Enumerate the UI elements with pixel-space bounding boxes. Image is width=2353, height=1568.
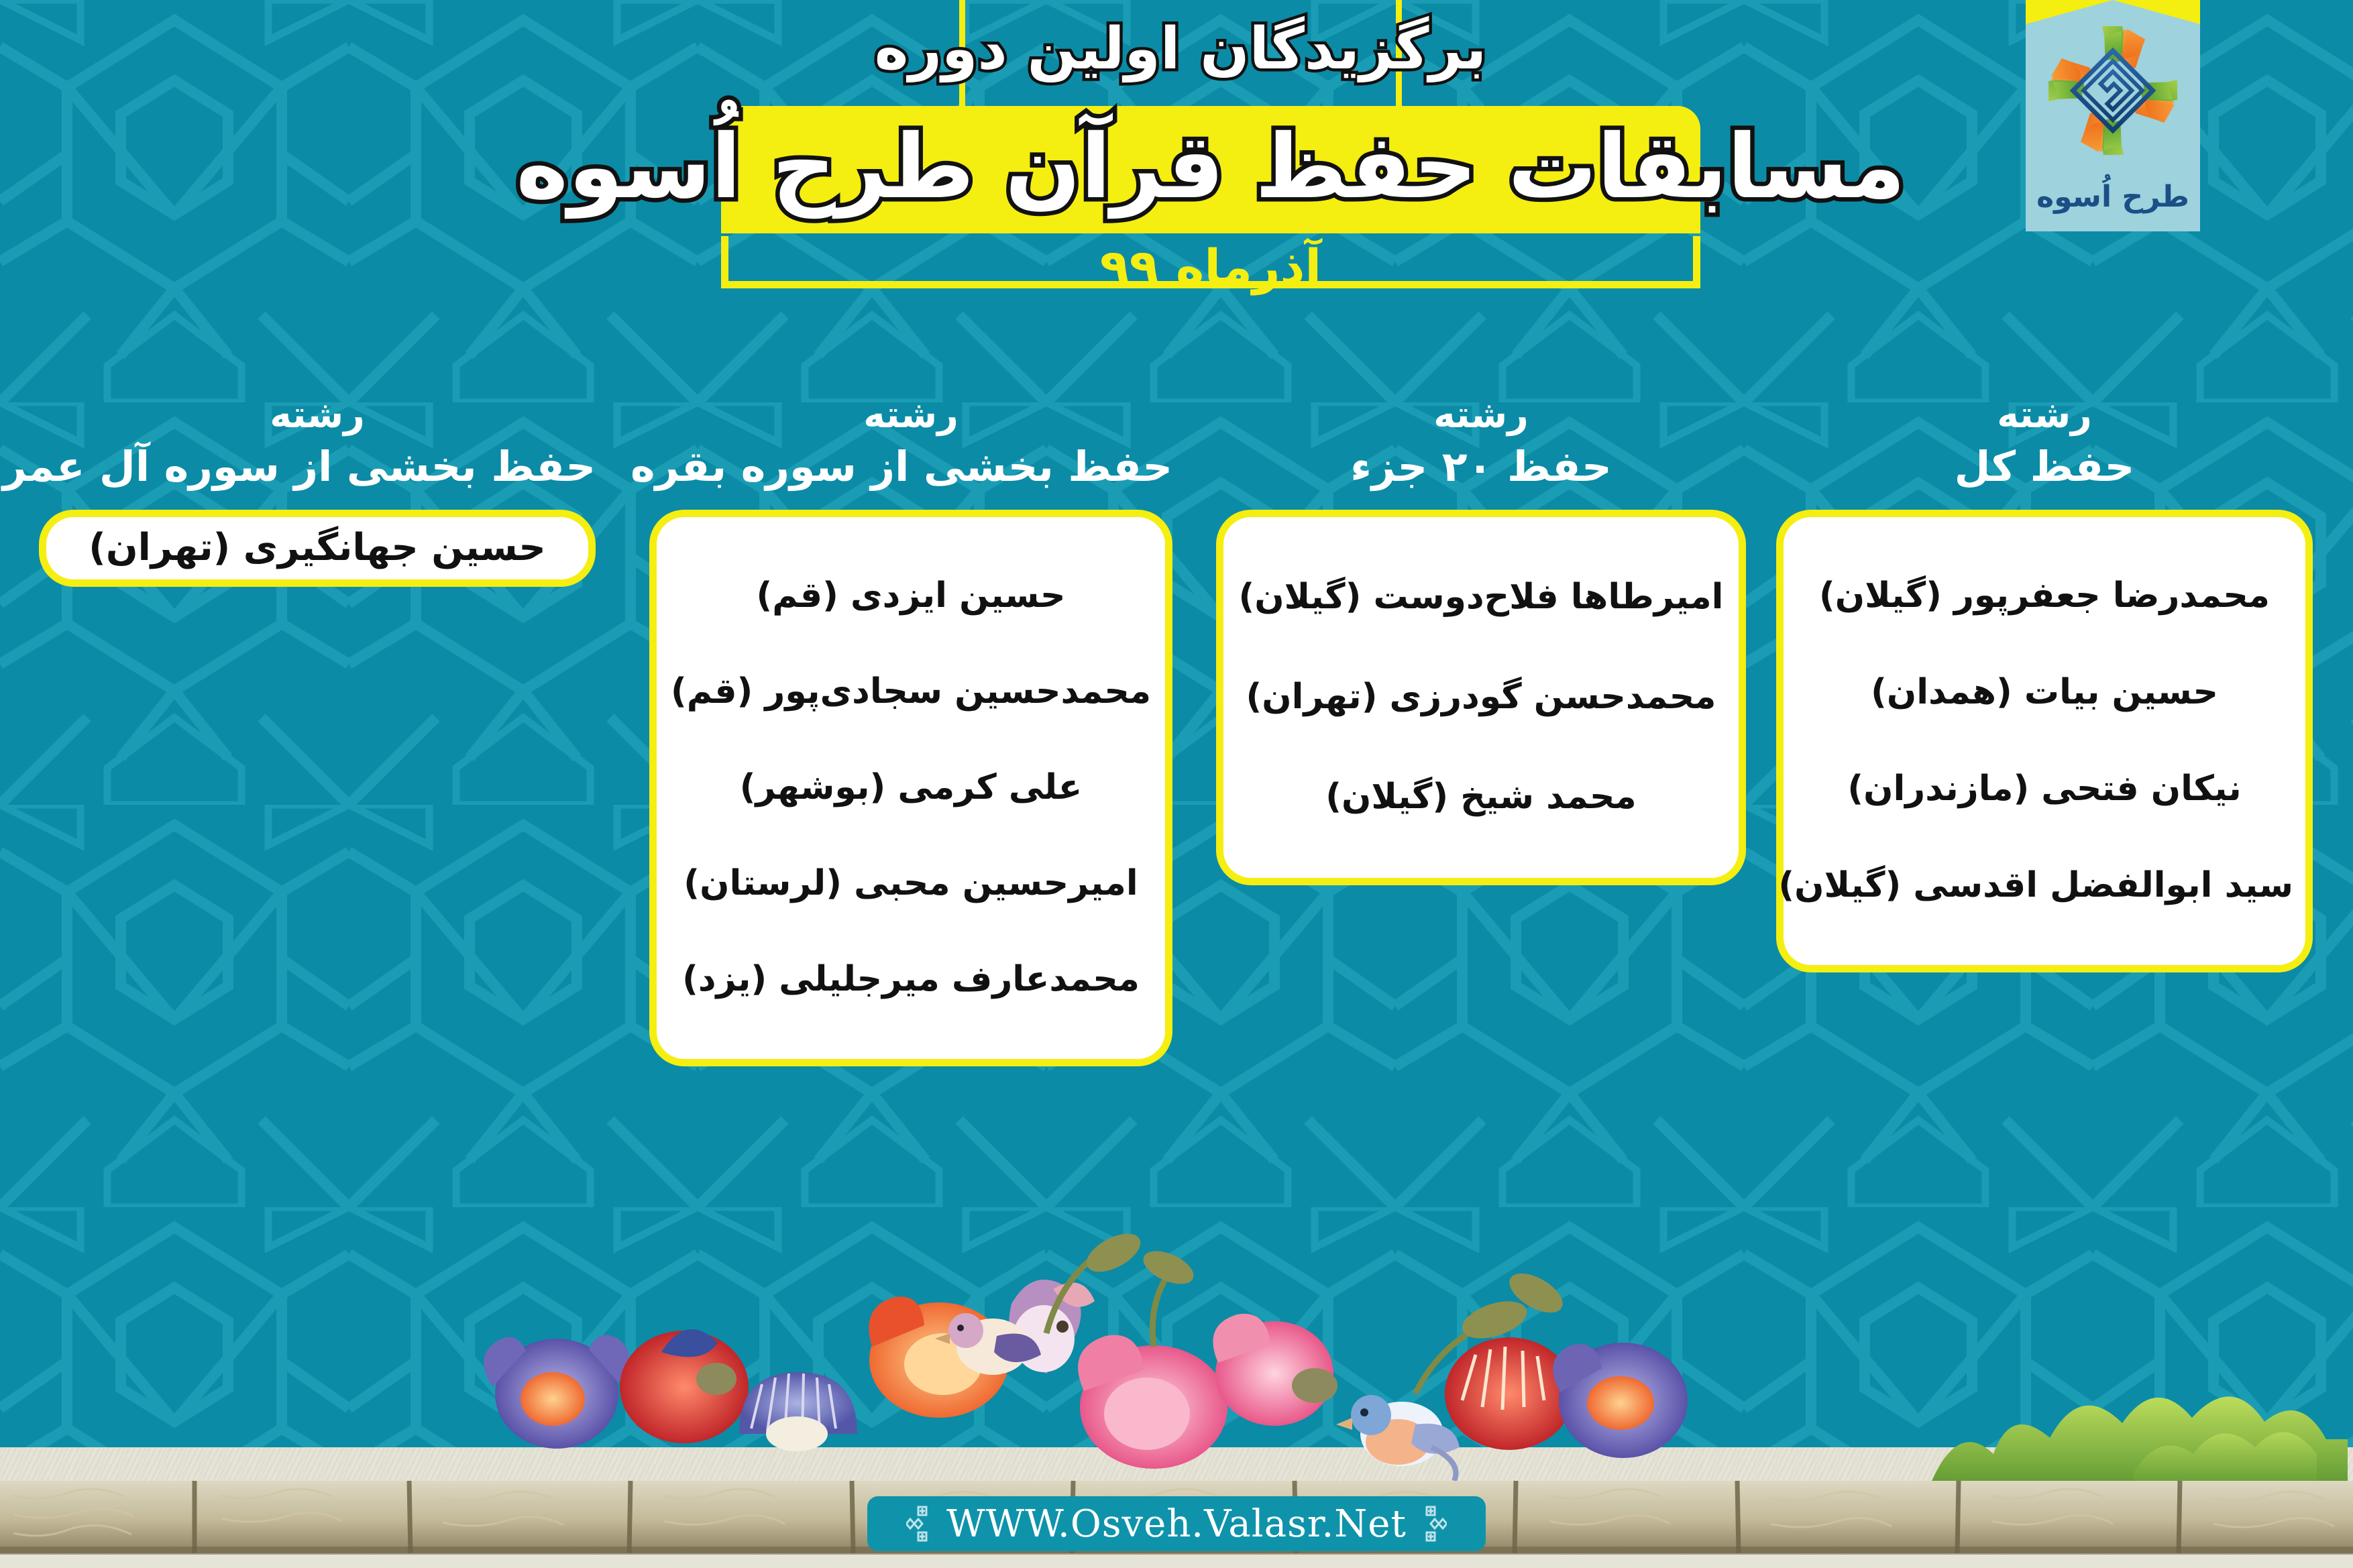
website-url: WWW.Osveh.Valasr.Net bbox=[946, 1502, 1407, 1546]
poster-root: برگزیدگان اولین دوره مسابقات حفظ قرآن طر… bbox=[0, 0, 2353, 1568]
ornament-right-icon bbox=[906, 1504, 929, 1543]
column-kind-label: رشته bbox=[1776, 396, 2313, 435]
winner-name: حسین ایزدی (قم) bbox=[669, 576, 1153, 616]
column-kind-label: رشته bbox=[1216, 396, 1746, 435]
date-label: آذرماه ۹۹ bbox=[721, 240, 1700, 294]
ornament-left-icon bbox=[1424, 1504, 1447, 1543]
winners-columns: رشته حفظ بخشی از سوره آل عمران حسین جهان… bbox=[0, 396, 2353, 1234]
column-title: حفظ ۲۰ جزء bbox=[1216, 444, 1746, 490]
winner-name: سید ابوالفضل اقدسی (گیلان) bbox=[1796, 866, 2293, 906]
winner-name: حسین جهانگیری (تهران) bbox=[89, 526, 546, 569]
winner-name: محمدعارف میرجلیلی (یزد) bbox=[669, 960, 1153, 1000]
logo-wordmark: طرح اُسوه bbox=[2026, 173, 2200, 220]
eyebrow-text: برگزیدگان اولین دوره bbox=[939, 5, 1422, 93]
winner-name: امیرحسین محبی (لرستان) bbox=[669, 864, 1153, 904]
winner-name: محمدرضا جعفرپور (گیلان) bbox=[1796, 576, 2293, 616]
winners-card: محمدرضا جعفرپور (گیلان) حسین بیات (همدان… bbox=[1776, 510, 2313, 972]
winners-card: حسین ایزدی (قم) محمدحسین سجادی‌پور (قم) … bbox=[649, 510, 1172, 1066]
winner-name: محمدحسین سجادی‌پور (قم) bbox=[669, 672, 1153, 712]
title-banner: مسابقات حفظ قرآن طرح اُسوه bbox=[721, 106, 1700, 233]
column-kind-label: رشته bbox=[39, 396, 596, 435]
winner-name: محمد شیخ (گیلان) bbox=[1236, 777, 1727, 818]
column-baqarah: رشته حفظ بخشی از سوره بقره حسین ایزدی (ق… bbox=[649, 396, 1172, 1066]
winner-name: نیکان فتحی (مازندران) bbox=[1796, 769, 2293, 809]
page-title: مسابقات حفظ قرآن طرح اُسوه bbox=[516, 123, 1905, 211]
column-20-juz: رشته حفظ ۲۰ جزء امیرطاها فلاح‌دوست (گیلا… bbox=[1216, 396, 1746, 885]
column-title: حفظ بخشی از سوره آل عمران bbox=[39, 444, 596, 490]
winners-card: امیرطاها فلاح‌دوست (گیلان) محمدحسن گودرز… bbox=[1216, 510, 1746, 885]
winner-name: حسین بیات (همدان) bbox=[1796, 673, 2293, 713]
winner-name: علی کرمی (بوشهر) bbox=[669, 768, 1153, 808]
website-badge[interactable]: WWW.Osveh.Valasr.Net bbox=[867, 1496, 1486, 1551]
winner-name: محمدحسن گودرزی (تهران) bbox=[1236, 677, 1727, 718]
winners-card: حسین جهانگیری (تهران) bbox=[39, 510, 596, 587]
column-title: حفظ بخشی از سوره بقره bbox=[649, 444, 1172, 490]
column-full-hifz: رشته حفظ کل محمدرضا جعفرپور (گیلان) حسین… bbox=[1776, 396, 2313, 972]
column-kind-label: رشته bbox=[649, 396, 1172, 435]
winner-name: امیرطاها فلاح‌دوست (گیلان) bbox=[1236, 577, 1727, 618]
poster-header: برگزیدگان اولین دوره مسابقات حفظ قرآن طر… bbox=[0, 0, 2353, 315]
column-title: حفظ کل bbox=[1776, 444, 2313, 490]
column-al-e-imran: رشته حفظ بخشی از سوره آل عمران حسین جهان… bbox=[39, 396, 596, 587]
footer: WWW.Osveh.Valasr.Net bbox=[0, 1492, 2353, 1556]
